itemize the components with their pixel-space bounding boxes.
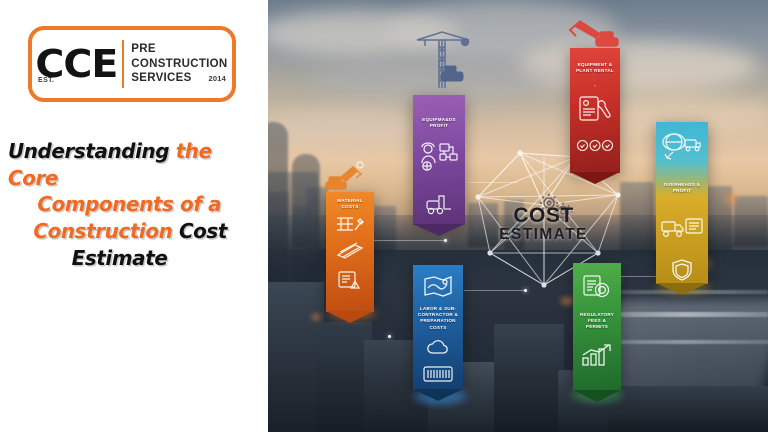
excavator-icon — [322, 160, 366, 194]
bridge — [604, 312, 768, 317]
invoice-warning-icon — [337, 269, 363, 291]
logo-lockup: CCE PRE CONSTRUCTION SERVICES — [37, 40, 228, 88]
site-plan-map-icon — [422, 274, 454, 298]
banner-label: LABOR & SUB-CONTRACTOR & PREPARATION COS… — [413, 306, 463, 331]
logo-subtitle-line2: CONSTRUCTION — [131, 58, 227, 70]
cloud-icon — [425, 339, 451, 356]
headline-seg-construction: Construction — [33, 219, 172, 243]
connector-line — [468, 182, 518, 183]
headline-seg-estimate: Estimate — [72, 246, 168, 270]
banner-tip — [656, 283, 708, 295]
document-stamp-icon — [581, 274, 613, 300]
connector-node — [524, 289, 527, 292]
gears-icon — [536, 192, 576, 228]
skyline-building — [374, 206, 396, 252]
headline-line-4: Estimate — [8, 245, 258, 272]
established-year: 2014 — [209, 74, 227, 83]
logo-divider — [122, 40, 124, 88]
connector-line — [620, 276, 660, 277]
foreground-building — [608, 386, 768, 432]
banner-tip — [413, 224, 465, 236]
growth-bar-chart-icon — [580, 343, 614, 367]
infographic-image: MATERIAL COSTS — [268, 0, 768, 432]
headline-line-1: Understanding the Core — [8, 138, 258, 191]
foreground-building — [494, 324, 564, 432]
banner-overheads-profit[interactable]: OVERHEADS & PROFIT — [656, 122, 708, 284]
connector-line — [464, 290, 524, 291]
headline-line-3: Construction Cost — [8, 218, 258, 245]
bridge — [598, 340, 768, 344]
banner-label: EQUIPMA&DS PROFIT — [413, 117, 465, 129]
headline-seg-cost: Cost — [172, 219, 227, 243]
contract-wrench-icon — [577, 95, 613, 123]
skyline-tower — [268, 122, 288, 282]
banner-label: REGULATORY FEES & PERMITS — [573, 312, 621, 331]
tower-crane-icon — [411, 30, 473, 96]
logo-subtitle-line3: SERVICES — [131, 72, 191, 84]
banner-tip — [413, 389, 463, 401]
connector-node — [388, 335, 391, 338]
page-title: Understanding the Core Components of a C… — [8, 138, 258, 271]
logo-mark-text: CCE — [35, 45, 117, 83]
banner-subtext: :• — [594, 77, 595, 87]
banner-tip — [570, 172, 620, 184]
city-light-glow — [308, 312, 324, 322]
connector-node — [444, 239, 447, 242]
banner-label: EQUIPMENT & PLANT RENTAL — [570, 62, 620, 74]
shield-icon — [671, 258, 693, 282]
connector-line — [374, 240, 444, 241]
forklift-icon — [424, 193, 454, 215]
excavator-arm-icon — [566, 18, 624, 52]
globe-truck-icon — [661, 132, 703, 166]
banner-equipment-overheads-profit[interactable]: EQUIPMA&DS PROFIT — [413, 95, 465, 225]
brick-wall-icon — [335, 213, 365, 237]
city-light-glow — [723, 188, 739, 210]
banner-label: OVERHEADS & PROFIT — [656, 182, 708, 194]
banner-equipment-plant-rental[interactable]: EQUIPMENT & PLANT RENTAL :• — [570, 48, 620, 173]
worker-flowchart-icon — [418, 141, 460, 173]
banner-material-costs[interactable]: MATERIAL COSTS — [326, 192, 374, 312]
headline-seg-understanding: Understanding — [8, 139, 176, 163]
brand-logo: EST. CCE PRE CONSTRUCTION SERVICES 2014 — [28, 26, 236, 102]
headline-line-2: Components of a — [8, 191, 258, 218]
poster-canvas: EST. CCE PRE CONSTRUCTION SERVICES 2014 … — [0, 0, 768, 432]
banner-labor-subcontractor-preparation-costs[interactable]: LABOR & SUB-CONTRACTOR & PREPARATION COS… — [413, 265, 463, 390]
delivery-truck-icon — [660, 216, 704, 240]
three-check-circles-icon — [576, 139, 614, 152]
banner-label: MATERIAL COSTS — [326, 198, 374, 210]
banner-tip — [326, 311, 374, 323]
barcode-panel-icon — [422, 364, 454, 384]
headline-seg-components: Components of a — [37, 192, 221, 216]
banner-tip — [573, 390, 621, 402]
logo-subtitle-line1: PRE — [131, 43, 156, 55]
banner-regulatory-fees-permits[interactable]: REGULATORY FEES & PERMITS — [573, 263, 621, 391]
skyline-tower — [292, 154, 320, 284]
skyline-building — [734, 196, 768, 246]
left-text-panel: EST. CCE PRE CONSTRUCTION SERVICES 2014 … — [0, 0, 268, 432]
lumber-planks-icon — [335, 242, 365, 260]
